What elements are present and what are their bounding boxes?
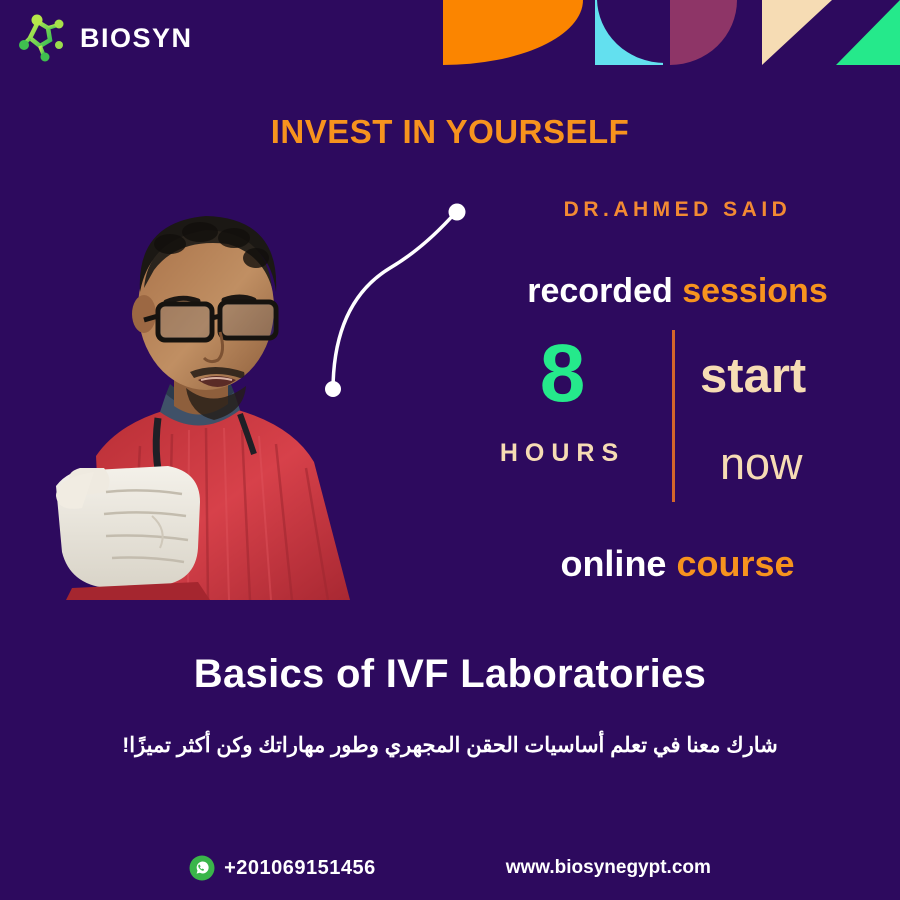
promo-poster: BIOSYN INVEST IN YOURSELF: [0, 0, 900, 900]
arabic-subtitle: شارك معنا في تعلم أساسيات الحقن المجهري …: [0, 733, 900, 758]
headline: INVEST IN YOURSELF: [0, 113, 900, 151]
decor-concave-quarter-cyan: [595, 0, 663, 65]
footer: +201069151456 www.biosynegypt.com: [0, 855, 900, 881]
hours-block: 8 HOURS: [460, 335, 665, 468]
online-course-line: online course: [455, 543, 900, 585]
online-word: online: [560, 543, 666, 584]
speaker-name: DR.AHMED SAID: [455, 198, 900, 222]
sessions-word: sessions: [682, 272, 828, 310]
decor-quarter-circle-magenta: [670, 0, 737, 65]
whatsapp-icon: [189, 855, 215, 881]
decor-triangle-cream: [762, 0, 832, 65]
brand-name: BIOSYN: [80, 23, 193, 54]
hours-label: HOURS: [460, 439, 665, 468]
decor-quarter-circle-orange: [443, 0, 583, 65]
now-word: now: [720, 438, 803, 490]
course-word: course: [676, 543, 794, 584]
molecule-network-icon: [18, 12, 70, 64]
whatsapp-contact[interactable]: +201069151456: [189, 855, 376, 881]
vertical-divider: [672, 330, 675, 502]
phone-number: +201069151456: [224, 857, 376, 880]
recorded-word: recorded: [527, 272, 673, 310]
recorded-sessions-line: recorded sessions: [455, 272, 900, 311]
website-url[interactable]: www.biosynegypt.com: [506, 857, 711, 879]
course-title: Basics of IVF Laboratories: [0, 652, 900, 697]
hours-number: 8: [460, 335, 665, 413]
start-word: start: [700, 348, 806, 404]
decor-triangle-green: [836, 0, 900, 65]
brand-logo: BIOSYN: [18, 12, 193, 64]
